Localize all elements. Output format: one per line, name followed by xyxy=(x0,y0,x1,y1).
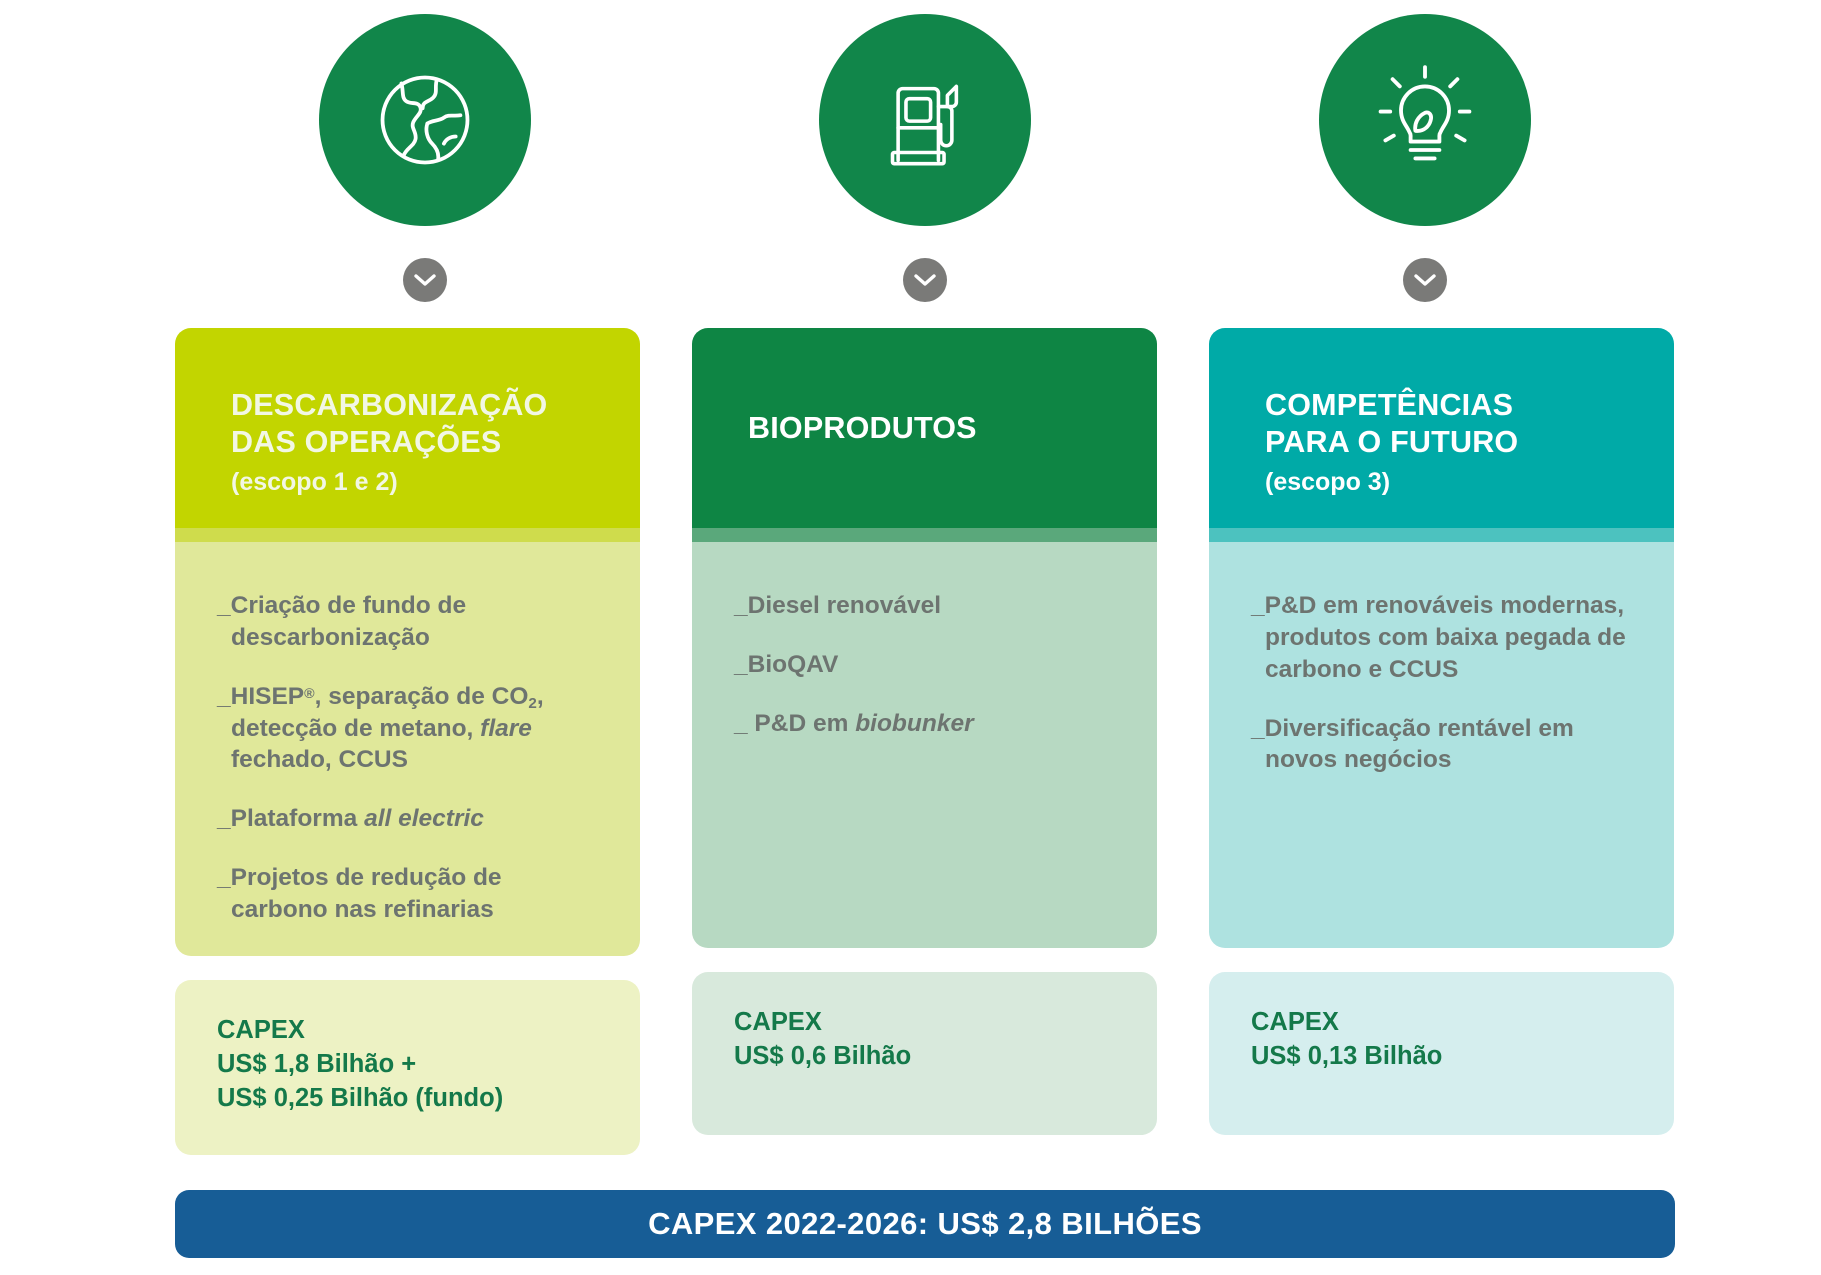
capex-label: CAPEX xyxy=(734,1006,1115,1040)
list-item: _BioQAV xyxy=(734,649,1117,681)
capex-value: US$ 1,8 Bilhão + US$ 0,25 Bilhão (fundo) xyxy=(217,1048,598,1116)
chevron-down-icon[interactable] xyxy=(403,258,447,302)
capex-label: CAPEX xyxy=(217,1014,598,1048)
globe-icon xyxy=(319,14,531,226)
card-bullet-list: _Criação de fundo de descarbonização _HI… xyxy=(175,542,640,956)
chevron-down-icon[interactable] xyxy=(1403,258,1447,302)
card-main: DESCARBONIZAÇÃO DAS OPERAÇÕES (escopo 1 … xyxy=(175,328,640,956)
card-competencies: COMPETÊNCIAS PARA O FUTURO (escopo 3) _P… xyxy=(1209,328,1674,1155)
infographic-root: DESCARBONIZAÇÃO DAS OPERAÇÕES (escopo 1 … xyxy=(0,0,1821,1275)
list-item: _Diesel renovável xyxy=(734,590,1117,622)
card-main: COMPETÊNCIAS PARA O FUTURO (escopo 3) _P… xyxy=(1209,328,1674,948)
card-decarbonization: DESCARBONIZAÇÃO DAS OPERAÇÕES (escopo 1 … xyxy=(175,328,640,1155)
capex-box: CAPEX US$ 0,13 Bilhão xyxy=(1209,972,1674,1135)
chevron-down-icon[interactable] xyxy=(903,258,947,302)
fuel-pump-icon xyxy=(819,14,1031,226)
lightbulb-leaf-icon xyxy=(1319,14,1531,226)
card-bioproducts: BIOPRODUTOS _Diesel renovável _BioQAV _ … xyxy=(692,328,1157,1155)
capex-box: CAPEX US$ 1,8 Bilhão + US$ 0,25 Bilhão (… xyxy=(175,980,640,1156)
card-subtitle: (escopo 3) xyxy=(1265,467,1618,498)
list-item: _HISEP®, separação de CO2, detecção de m… xyxy=(217,681,600,777)
capex-value: US$ 0,6 Bilhão xyxy=(734,1040,1115,1074)
card-title: COMPETÊNCIAS PARA O FUTURO xyxy=(1265,387,1618,461)
card-title: DESCARBONIZAÇÃO DAS OPERAÇÕES xyxy=(231,387,584,461)
card-bullet-list: _Diesel renovável _BioQAV _ P&D em biobu… xyxy=(692,542,1157,948)
capex-label: CAPEX xyxy=(1251,1006,1632,1040)
header-divider xyxy=(692,528,1157,542)
chevron-row xyxy=(175,258,1675,302)
header-divider xyxy=(175,528,640,542)
capex-box: CAPEX US$ 0,6 Bilhão xyxy=(692,972,1157,1135)
chevron-slot-2 xyxy=(675,258,1175,302)
card-subtitle: (escopo 1 e 2) xyxy=(231,467,584,498)
footer-banner: CAPEX 2022-2026: US$ 2,8 BILHÕES xyxy=(175,1190,1675,1258)
list-item: _Criação de fundo de descarbonização xyxy=(217,590,600,654)
header-divider xyxy=(1209,528,1674,542)
icon-slot-bioproducts xyxy=(675,14,1175,254)
cards-row: DESCARBONIZAÇÃO DAS OPERAÇÕES (escopo 1 … xyxy=(175,328,1675,1155)
footer-capex-total: CAPEX 2022-2026: US$ 2,8 BILHÕES xyxy=(648,1206,1202,1242)
list-item: _Plataforma all electric xyxy=(217,803,600,835)
icon-row xyxy=(175,14,1675,254)
list-item: _P&D em renováveis modernas, produtos co… xyxy=(1251,590,1634,686)
list-item: _Diversificação rentável em novos negóci… xyxy=(1251,713,1634,777)
chevron-slot-1 xyxy=(175,258,675,302)
icon-slot-decarbonization xyxy=(175,14,675,254)
card-header: DESCARBONIZAÇÃO DAS OPERAÇÕES (escopo 1 … xyxy=(175,328,640,528)
chevron-slot-3 xyxy=(1175,258,1675,302)
list-item: _Projetos de redução de carbono nas refi… xyxy=(217,862,600,926)
card-header: COMPETÊNCIAS PARA O FUTURO (escopo 3) xyxy=(1209,328,1674,528)
card-header: BIOPRODUTOS xyxy=(692,328,1157,528)
card-title: BIOPRODUTOS xyxy=(748,410,1101,447)
list-item: _ P&D em biobunker xyxy=(734,708,1117,740)
icon-slot-competencies xyxy=(1175,14,1675,254)
card-main: BIOPRODUTOS _Diesel renovável _BioQAV _ … xyxy=(692,328,1157,948)
card-bullet-list: _P&D em renováveis modernas, produtos co… xyxy=(1209,542,1674,948)
capex-value: US$ 0,13 Bilhão xyxy=(1251,1040,1632,1074)
